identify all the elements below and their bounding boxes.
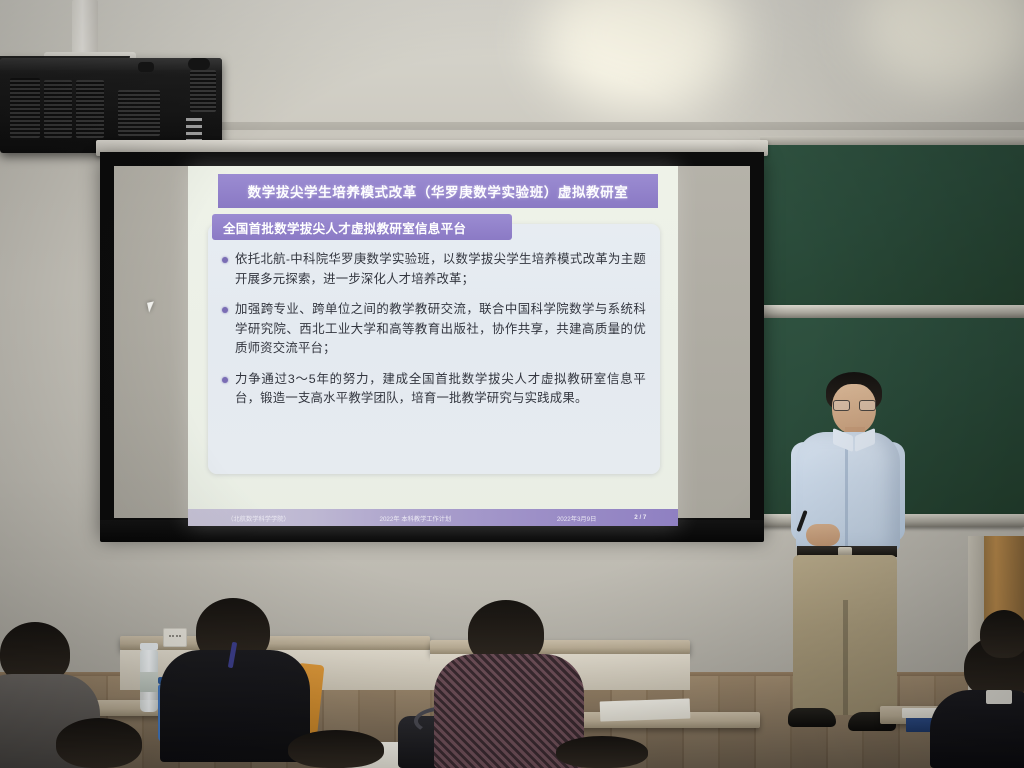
bullet-text: 力争通过3～5年的努力，建成全国首批数学拔尖人才虚拟教研室信息平台，锻造一支高水… — [235, 370, 646, 409]
bullet-dot-icon — [222, 257, 228, 263]
attendee-torso — [160, 650, 310, 762]
projector-vent-1 — [10, 78, 40, 138]
slide-title-text: 数学拔尖学生培养模式改革（华罗庚数学实验班）虚拟教研室 — [248, 181, 629, 201]
lecture-hall-photo: 数学拔尖学生培养模式改革（华罗庚数学实验班）虚拟教研室 全国首批数学拔尖人才虚拟… — [0, 0, 1024, 768]
footer-page-number: 2 / 7 — [634, 514, 646, 521]
projector-vent-2 — [44, 80, 72, 138]
projector-lens-housing — [188, 58, 210, 70]
attendee-head — [288, 730, 384, 768]
bullet-text: 依托北航-中科院华罗庚数学实验班，以数学拔尖学生培养模式改革为主题开展多元探索，… — [235, 250, 646, 289]
presenter-shoe-left — [788, 708, 836, 727]
footer-department: （北航数学科学学院） — [227, 513, 289, 523]
water-bottle — [140, 650, 158, 712]
bullet-dot-icon — [222, 307, 228, 313]
wall-power-outlet — [163, 628, 187, 647]
presenter-shirt-placket — [845, 436, 848, 546]
presenter-leg-separation — [843, 600, 848, 715]
slide-bullet-list: 依托北航-中科院华罗庚数学实验班，以数学拔尖学生培养模式改革为主题开展多元探索，… — [222, 250, 646, 420]
projector-vent-3 — [76, 80, 104, 138]
slide-bullet-item: 加强跨专业、跨单位之间的教学教研交流，联合中国科学院数学与系统科学研究院、西北工… — [222, 300, 646, 359]
slide-subtitle-text: 全国首批数学拔尖人才虚拟教研室信息平台 — [223, 218, 466, 237]
slide-bullet-item: 依托北航-中科院华罗庚数学实验班，以数学拔尖学生培养模式改革为主题开展多元探索，… — [222, 250, 646, 289]
slide-subtitle-banner: 全国首批数学拔尖人才虚拟教研室信息平台 — [212, 214, 512, 240]
bullet-dot-icon — [222, 377, 228, 383]
projector-label — [186, 118, 202, 142]
attendee-head — [556, 736, 648, 768]
footer-date: 2022年3月9日 — [557, 513, 597, 523]
presenter-hands — [806, 524, 840, 546]
blackboard-top-rail — [760, 136, 1024, 145]
projector-vent-4 — [118, 90, 160, 136]
slide-footer: （北航数学科学学院） 2022年 本科教学工作计划 2022年3月9日 2 / … — [188, 509, 678, 526]
slide-bullet-item: 力争通过3～5年的努力，建成全国首批数学拔尖人才虚拟教研室信息平台，锻造一支高水… — [222, 370, 646, 409]
attendee-collar — [986, 690, 1012, 704]
footer-subject: 2022年 本科教学工作计划 — [379, 513, 451, 523]
blackboard-panel-upper — [760, 145, 1024, 305]
projector-vent-side — [190, 70, 216, 112]
attendee-head — [56, 718, 142, 768]
slide-title-bar: 数学拔尖学生培养模式改革（华罗庚数学实验班）虚拟教研室 — [218, 174, 658, 208]
presenter-glasses-icon — [833, 400, 875, 410]
projector-knob — [138, 62, 154, 72]
attendee-head — [980, 610, 1024, 658]
bullet-text: 加强跨专业、跨单位之间的教学教研交流，联合中国科学院数学与系统科学研究院、西北工… — [235, 300, 646, 359]
notebook-page — [600, 698, 691, 721]
blackboard-middle-ledge — [760, 305, 1024, 318]
projected-slide: 数学拔尖学生培养模式改革（华罗庚数学实验班）虚拟教研室 全国首批数学拔尖人才虚拟… — [188, 166, 678, 526]
slide-content-card: 全国首批数学拔尖人才虚拟教研室信息平台 依托北航-中科院华罗庚数学实验班，以数学… — [208, 224, 660, 474]
